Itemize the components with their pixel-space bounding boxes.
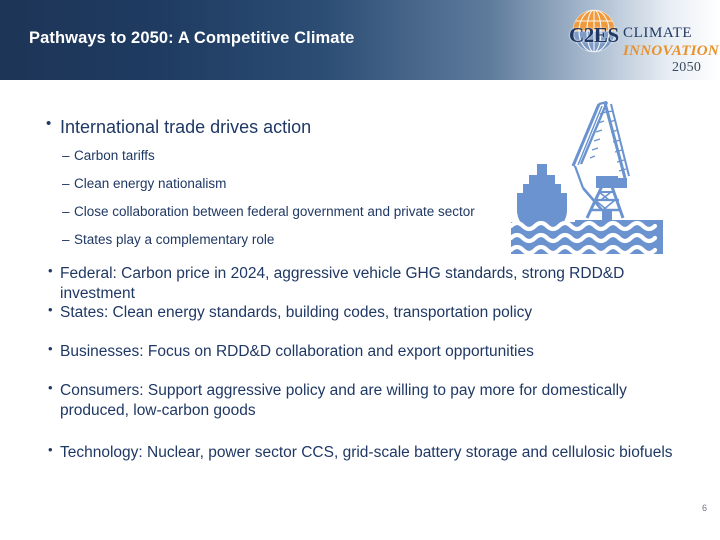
bullet-level2: – Close collaboration between federal go… bbox=[62, 204, 502, 221]
slide: Pathways to 2050: A Competitive Climate bbox=[0, 0, 720, 540]
bullet-glyph: • bbox=[48, 380, 53, 397]
bullet-text: Close collaboration between federal gove… bbox=[74, 204, 502, 221]
bullet-level1: • States: Clean energy standards, buildi… bbox=[48, 303, 678, 323]
dash-glyph: – bbox=[62, 148, 70, 165]
bullet-level2: – States play a complementary role bbox=[62, 232, 492, 249]
dash-glyph: – bbox=[62, 204, 70, 221]
logo-line-innovation: INNOVATION bbox=[623, 43, 719, 60]
logo-line-year: 2050 bbox=[672, 60, 701, 76]
page-number: 6 bbox=[702, 503, 707, 513]
bullet-level1: • International trade drives action bbox=[46, 116, 476, 139]
slide-body: • International trade drives action – Ca… bbox=[0, 80, 720, 540]
bullet-text: States play a complementary role bbox=[74, 232, 492, 249]
bullet-text: Carbon tariffs bbox=[74, 148, 492, 165]
bullet-glyph: • bbox=[48, 442, 53, 459]
port-shipping-icon bbox=[503, 92, 678, 254]
bullet-text: Federal: Carbon price in 2024, aggressiv… bbox=[60, 264, 678, 304]
dash-glyph: – bbox=[62, 176, 70, 193]
c2es-logo: C2ES CLIMATE INNOVATION 2050 bbox=[567, 6, 717, 76]
bullet-level1: • Consumers: Support aggressive policy a… bbox=[48, 381, 672, 421]
bullet-text: States: Clean energy standards, building… bbox=[60, 303, 678, 323]
bullet-text: Businesses: Focus on RDD&D collaboration… bbox=[60, 342, 678, 362]
bullet-level2: – Carbon tariffs bbox=[62, 148, 492, 165]
bullet-text: Consumers: Support aggressive policy and… bbox=[60, 381, 672, 421]
bullet-level1: • Businesses: Focus on RDD&D collaborati… bbox=[48, 342, 678, 362]
bullet-glyph: • bbox=[46, 114, 51, 133]
bullet-level2: – Clean energy nationalism bbox=[62, 176, 492, 193]
bullet-level1: • Federal: Carbon price in 2024, aggress… bbox=[48, 264, 678, 304]
logo-line-climate: CLIMATE bbox=[623, 25, 692, 42]
bullet-text: Clean energy nationalism bbox=[74, 176, 492, 193]
dash-glyph: – bbox=[62, 232, 70, 249]
page-title: Pathways to 2050: A Competitive Climate bbox=[29, 29, 354, 48]
bullet-text: International trade drives action bbox=[60, 116, 476, 139]
logo-wordmark: C2ES bbox=[569, 23, 619, 48]
bullet-level1: • Technology: Nuclear, power sector CCS,… bbox=[48, 443, 678, 463]
slide-header-band: Pathways to 2050: A Competitive Climate bbox=[0, 0, 720, 80]
bullet-glyph: • bbox=[48, 263, 53, 280]
bullet-glyph: • bbox=[48, 302, 53, 319]
bullet-glyph: • bbox=[48, 341, 53, 358]
bullet-text: Technology: Nuclear, power sector CCS, g… bbox=[60, 443, 678, 463]
